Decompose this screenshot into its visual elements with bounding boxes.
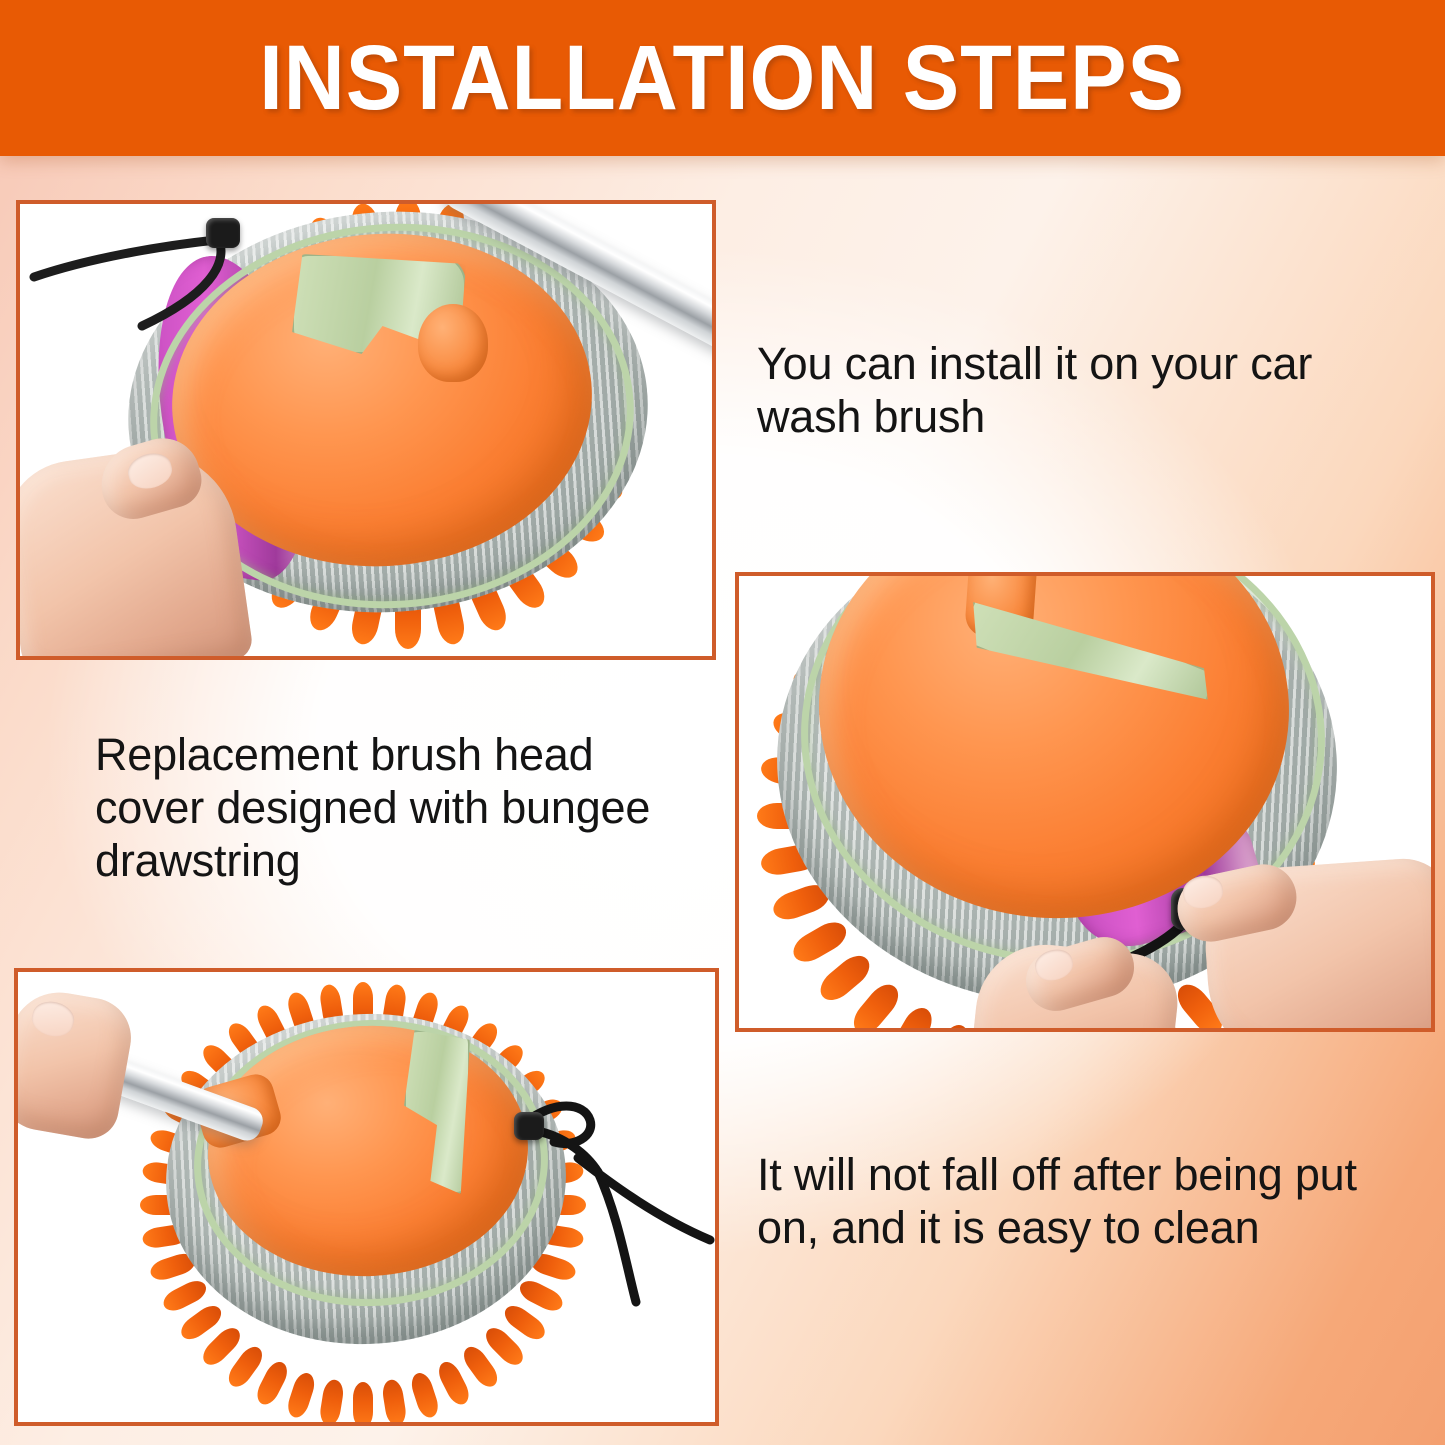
step-3-photo (18, 972, 715, 1422)
step-1-caption: You can install it on your car wash brus… (757, 337, 1357, 443)
step-1-photo (20, 204, 712, 656)
cord-toggle (206, 218, 240, 248)
cord-toggle (514, 1112, 544, 1140)
step-2-photo (739, 576, 1431, 1028)
step-2-caption: Replacement brush head cover designed wi… (95, 728, 705, 887)
step-3-photo-panel (14, 968, 719, 1426)
pole-socket (418, 304, 488, 382)
step-3-caption: It will not fall off after being put on,… (757, 1148, 1377, 1254)
header-banner: INSTALLATION STEPS (0, 0, 1445, 156)
page-title: INSTALLATION STEPS (260, 32, 1186, 124)
step-1-photo-panel (16, 200, 716, 660)
infographic-page: INSTALLATION STEPS (0, 0, 1445, 1445)
step-2-photo-panel (735, 572, 1435, 1032)
